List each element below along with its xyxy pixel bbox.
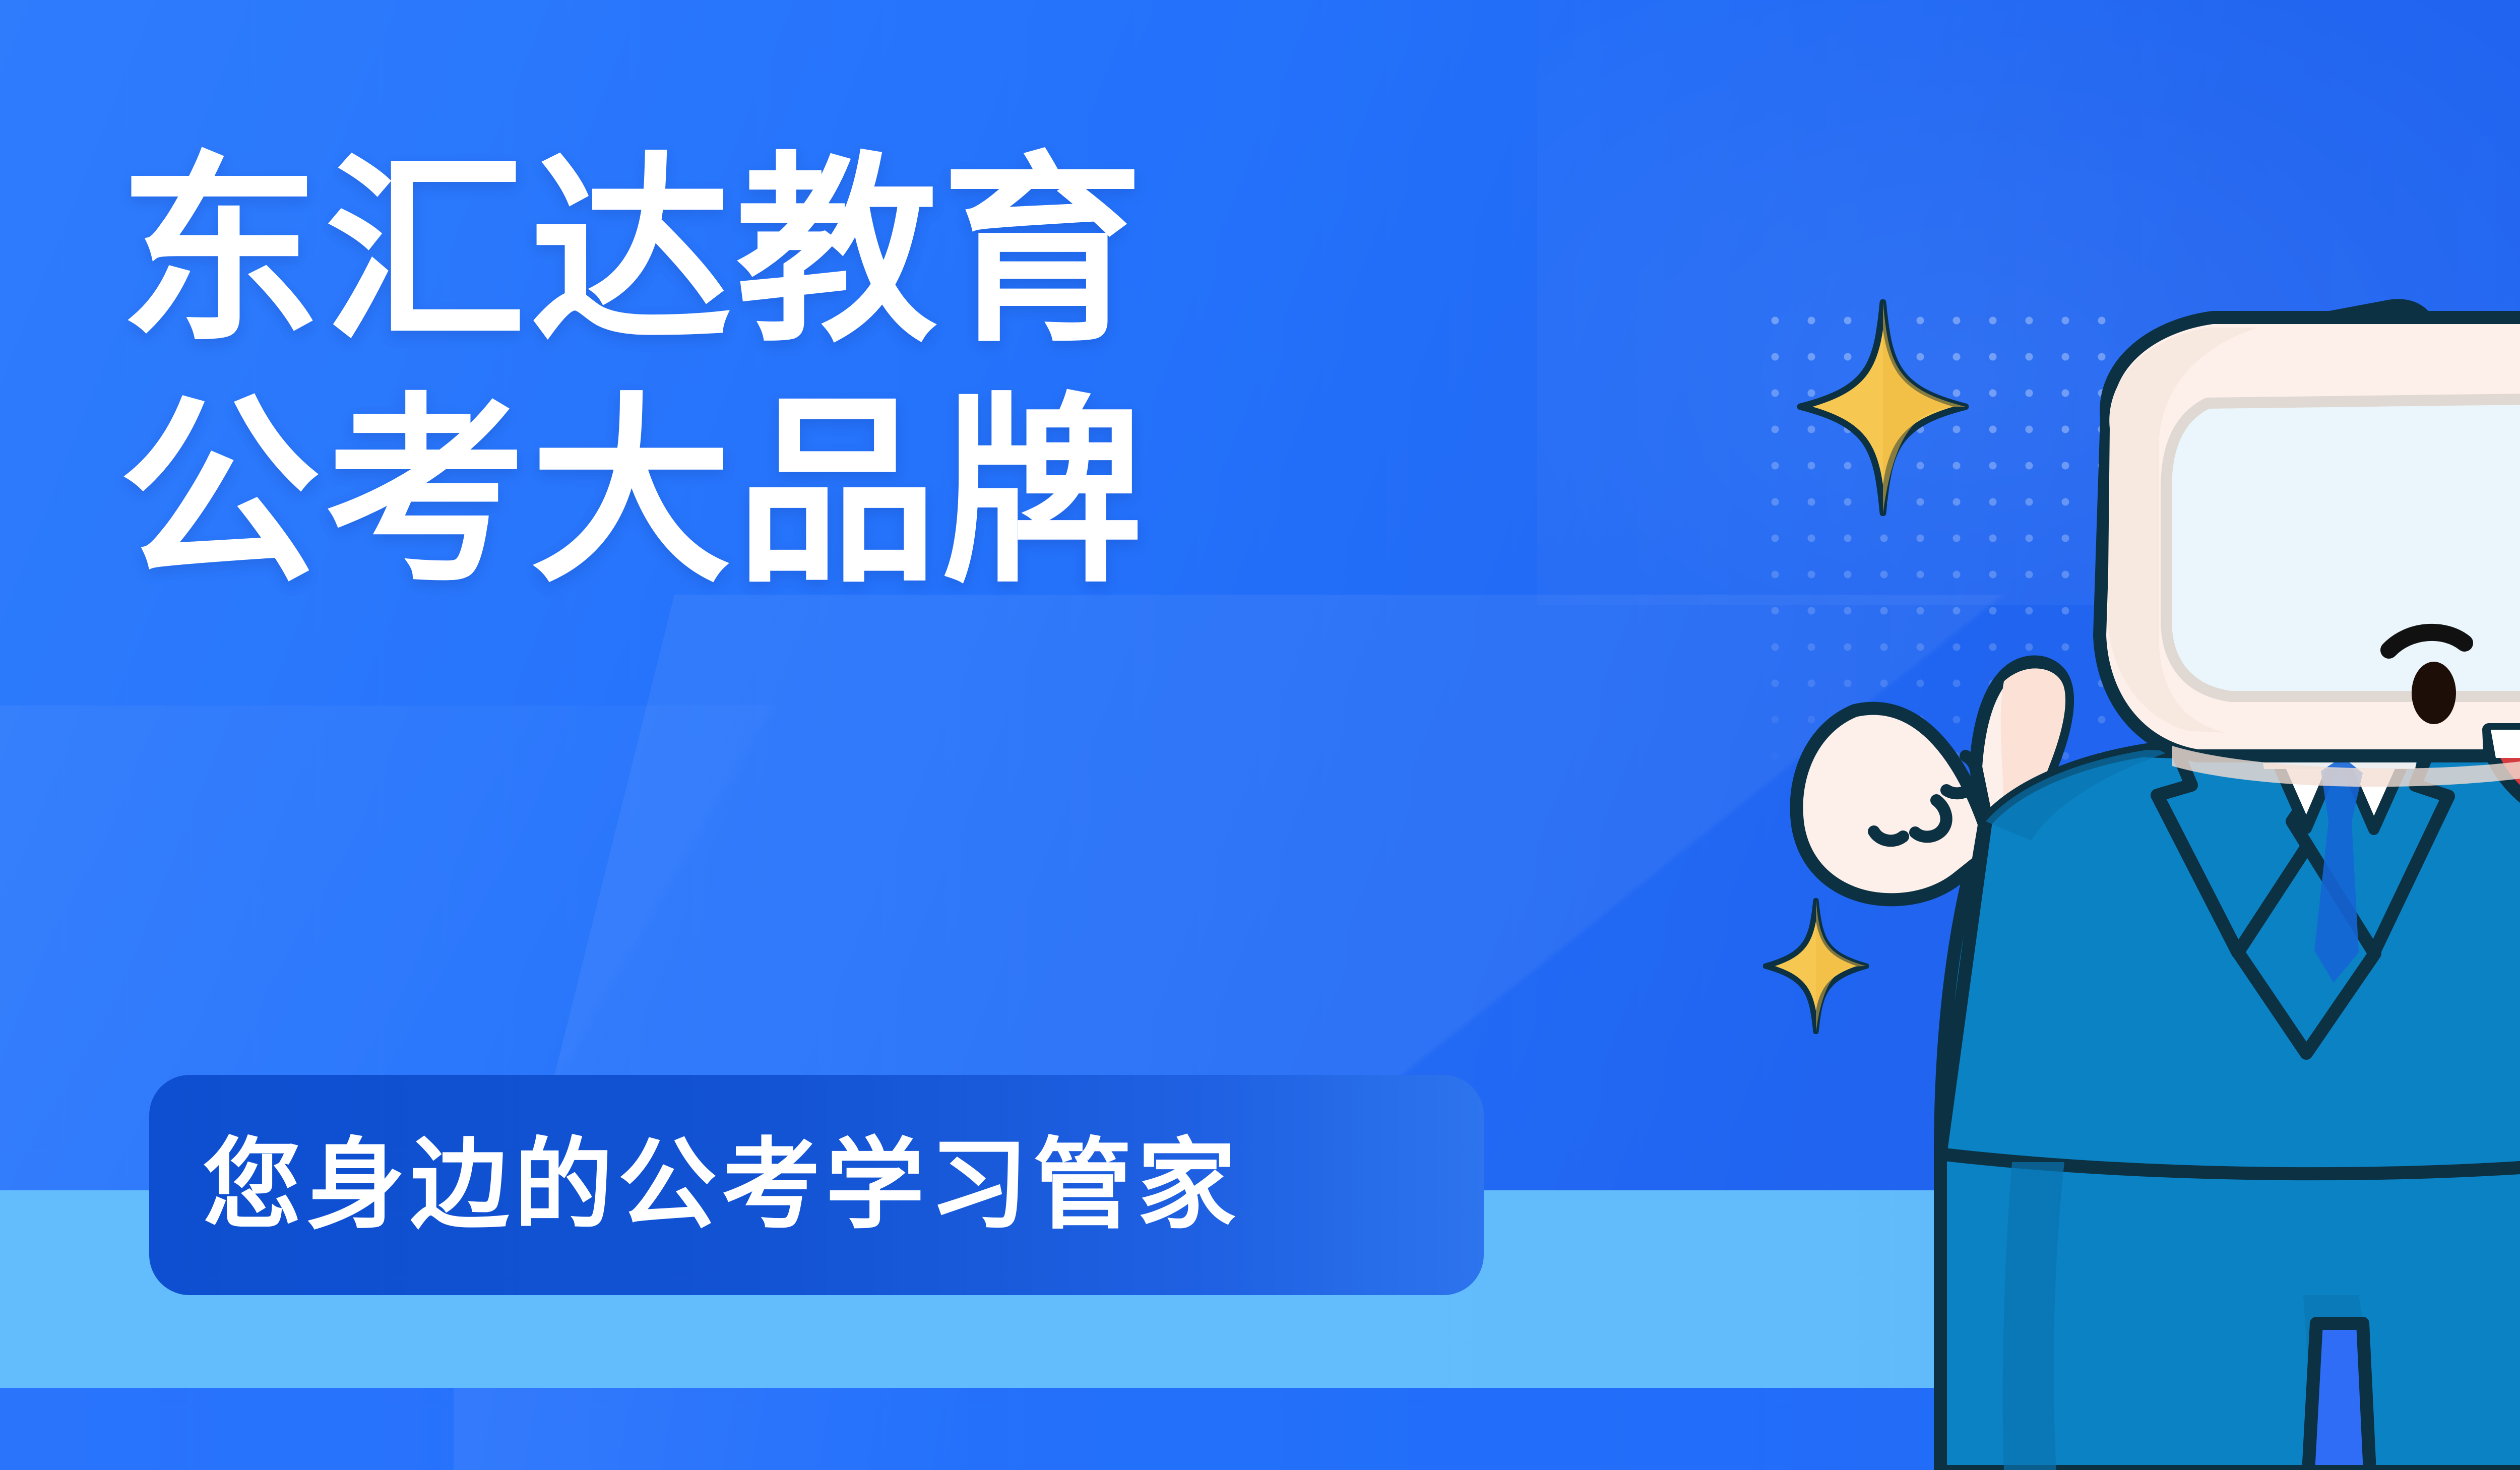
mascot-mouth xyxy=(2489,730,2520,823)
mascot-necktie xyxy=(2314,757,2363,983)
bottom-strip-sheen xyxy=(454,1388,1210,1470)
subtitle-text: 您身边的公考学习管家 xyxy=(203,1136,1241,1235)
mascot-hair-tuft xyxy=(2110,305,2431,436)
headline-line-2: 公考大品牌 xyxy=(119,392,1833,594)
mascot-teeth xyxy=(2491,730,2520,758)
headline-line-1: 东汇达教育 xyxy=(119,151,1833,353)
mascot-shirt-collar-right xyxy=(2340,751,2409,829)
headline-block: 东汇达教育 公考大品牌 xyxy=(119,151,1833,594)
mascot-left-arm xyxy=(1940,816,2160,1154)
mascot-shirt-collar-left xyxy=(2272,751,2340,828)
mascot-head-outer xyxy=(2100,317,2520,756)
sparkle-star-icon-small xyxy=(1763,898,1869,1034)
subtitle-pill: 您身边的公考学习管家 xyxy=(149,1075,1484,1295)
bottom-blue-strip xyxy=(0,1388,2520,1470)
mascot-brow-left xyxy=(2389,632,2465,650)
promo-banner: 东汇达教育 公考大品牌 您身边的公考学习管家 xyxy=(0,0,2520,1470)
mascot-face-panel xyxy=(2166,398,2520,696)
mascot-left-lapel xyxy=(2147,751,2323,952)
mascot-eye-left xyxy=(2412,662,2456,724)
mascot-right-lapel xyxy=(2292,751,2460,952)
mascot-thumbs-up-hand xyxy=(1796,662,2067,900)
